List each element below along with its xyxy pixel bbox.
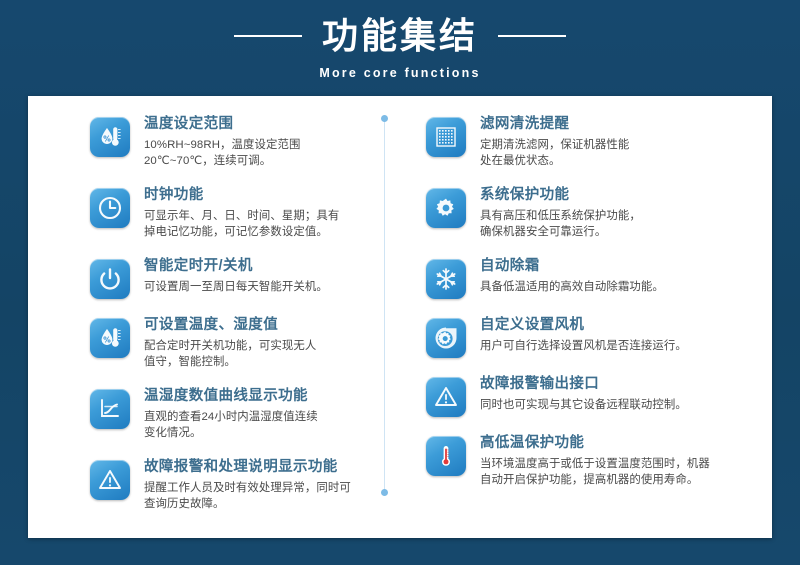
title-row: 功能集结 xyxy=(234,14,566,58)
page-header: 功能集结 More core functions xyxy=(0,0,800,96)
feature-description: 可设置周一至周日每天智能开关机。 xyxy=(144,279,328,295)
left-feature-column: % 温度设定范围 10%RH~98RH，温度设定范围 20℃~70℃，连续可调。 xyxy=(90,114,390,528)
feature-title: 时钟功能 xyxy=(144,185,339,205)
feature-description: 定期清洗滤网，保证机器性能 处在最优状态。 xyxy=(480,137,629,169)
feature-item: % 可设置温度、湿度值 配合定时开关机功能，可实现无人 值守，智能控制。 xyxy=(90,315,390,370)
feature-text: 智能定时开/关机 可设置周一至周日每天智能开关机。 xyxy=(144,256,328,295)
page-subtitle: More core functions xyxy=(319,66,480,80)
feature-text: 可设置温度、湿度值 配合定时开关机功能，可实现无人 值守，智能控制。 xyxy=(144,315,316,370)
feature-item: 故障报警和处理说明显示功能 提醒工作人员及时有效处理异常，同时可 查询历史故障。 xyxy=(90,457,390,512)
feature-item: 高低温保护功能 当环境温度高于或低于设置温度范围时，机器 自动开启保护功能，提高… xyxy=(426,433,726,488)
feature-description: 具备低温适用的高效自动除霜功能。 xyxy=(480,279,664,295)
feature-description: 10%RH~98RH，温度设定范围 20℃~70℃，连续可调。 xyxy=(144,137,300,169)
feature-item: 自动除霜 具备低温适用的高效自动除霜功能。 xyxy=(426,256,726,299)
feature-title: 高低温保护功能 xyxy=(480,433,710,453)
feature-item: 系统保护功能 具有高压和低压系统保护功能， 确保机器安全可靠运行。 xyxy=(426,185,726,240)
snowflake-icon xyxy=(426,259,466,299)
feature-description: 当环境温度高于或低于设置温度范围时，机器 自动开启保护功能，提高机器的使用寿命。 xyxy=(480,456,710,488)
feature-text: 故障报警和处理说明显示功能 提醒工作人员及时有效处理异常，同时可 查询历史故障。 xyxy=(144,457,351,512)
svg-text:%: % xyxy=(103,135,111,144)
humidity-thermometer-icon: % xyxy=(90,117,130,157)
feature-item: 自定义设置风机 用户可自行选择设置风机是否连接运行。 xyxy=(426,315,726,358)
feature-item: % 温度设定范围 10%RH~98RH，温度设定范围 20℃~70℃，连续可调。 xyxy=(90,114,390,169)
feature-title: 自定义设置风机 xyxy=(480,315,687,335)
feature-item: 温湿度数值曲线显示功能 直观的查看24小时内温湿度值连续 变化情况。 xyxy=(90,386,390,441)
svg-text:%: % xyxy=(103,336,111,345)
feature-text: 温湿度数值曲线显示功能 直观的查看24小时内温湿度值连续 变化情况。 xyxy=(144,386,318,441)
feature-title: 故障报警和处理说明显示功能 xyxy=(144,457,351,477)
feature-title: 滤网清洗提醒 xyxy=(480,114,629,134)
rule-right-icon xyxy=(498,35,566,37)
page-title: 功能集结 xyxy=(322,14,478,58)
fan-blower-icon xyxy=(426,318,466,358)
humidity-thermometer-icon: % xyxy=(90,318,130,358)
rule-left-icon xyxy=(234,35,302,37)
feature-description: 配合定时开关机功能，可实现无人 值守，智能控制。 xyxy=(144,338,316,370)
filter-grid-icon xyxy=(426,117,466,157)
feature-description: 直观的查看24小时内温湿度值连续 变化情况。 xyxy=(144,409,318,441)
right-feature-column: 滤网清洗提醒 定期清洗滤网，保证机器性能 处在最优状态。 xyxy=(426,114,726,504)
feature-description: 可显示年、月、日、时间、星期；具有 掉电记忆功能，可记忆参数设定值。 xyxy=(144,208,339,240)
feature-text: 自动除霜 具备低温适用的高效自动除霜功能。 xyxy=(480,256,664,295)
feature-text: 时钟功能 可显示年、月、日、时间、星期；具有 掉电记忆功能，可记忆参数设定值。 xyxy=(144,185,339,240)
feature-item: 故障报警输出接口 同时也可实现与其它设备远程联动控制。 xyxy=(426,374,726,417)
feature-text: 故障报警输出接口 同时也可实现与其它设备远程联动控制。 xyxy=(480,374,687,413)
feature-item: 时钟功能 可显示年、月、日、时间、星期；具有 掉电记忆功能，可记忆参数设定值。 xyxy=(90,185,390,240)
gear-icon xyxy=(426,188,466,228)
feature-title: 系统保护功能 xyxy=(480,185,641,205)
promo-page: 功能集结 More core functions % xyxy=(0,0,800,565)
feature-title: 智能定时开/关机 xyxy=(144,256,328,276)
features-columns: % 温度设定范围 10%RH~98RH，温度设定范围 20℃~70℃，连续可调。 xyxy=(28,96,772,538)
features-card: % 温度设定范围 10%RH~98RH，温度设定范围 20℃~70℃，连续可调。 xyxy=(28,96,772,538)
feature-title: 可设置温度、湿度值 xyxy=(144,315,316,335)
clock-icon xyxy=(90,188,130,228)
feature-text: 温度设定范围 10%RH~98RH，温度设定范围 20℃~70℃，连续可调。 xyxy=(144,114,300,169)
feature-title: 自动除霜 xyxy=(480,256,664,276)
power-icon xyxy=(90,259,130,299)
warning-triangle-icon xyxy=(426,377,466,417)
feature-title: 故障报警输出接口 xyxy=(480,374,687,394)
feature-description: 同时也可实现与其它设备远程联动控制。 xyxy=(480,397,687,413)
feature-text: 高低温保护功能 当环境温度高于或低于设置温度范围时，机器 自动开启保护功能，提高… xyxy=(480,433,710,488)
feature-item: 滤网清洗提醒 定期清洗滤网，保证机器性能 处在最优状态。 xyxy=(426,114,726,169)
chart-curve-icon xyxy=(90,389,130,429)
feature-item: 智能定时开/关机 可设置周一至周日每天智能开关机。 xyxy=(90,256,390,299)
feature-description: 用户可自行选择设置风机是否连接运行。 xyxy=(480,338,687,354)
feature-title: 温度设定范围 xyxy=(144,114,300,134)
feature-description: 提醒工作人员及时有效处理异常，同时可 查询历史故障。 xyxy=(144,480,351,512)
feature-text: 自定义设置风机 用户可自行选择设置风机是否连接运行。 xyxy=(480,315,687,354)
thermometer-icon xyxy=(426,436,466,476)
feature-title: 温湿度数值曲线显示功能 xyxy=(144,386,318,406)
feature-description: 具有高压和低压系统保护功能， 确保机器安全可靠运行。 xyxy=(480,208,641,240)
warning-triangle-icon xyxy=(90,460,130,500)
feature-text: 滤网清洗提醒 定期清洗滤网，保证机器性能 处在最优状态。 xyxy=(480,114,629,169)
feature-text: 系统保护功能 具有高压和低压系统保护功能， 确保机器安全可靠运行。 xyxy=(480,185,641,240)
